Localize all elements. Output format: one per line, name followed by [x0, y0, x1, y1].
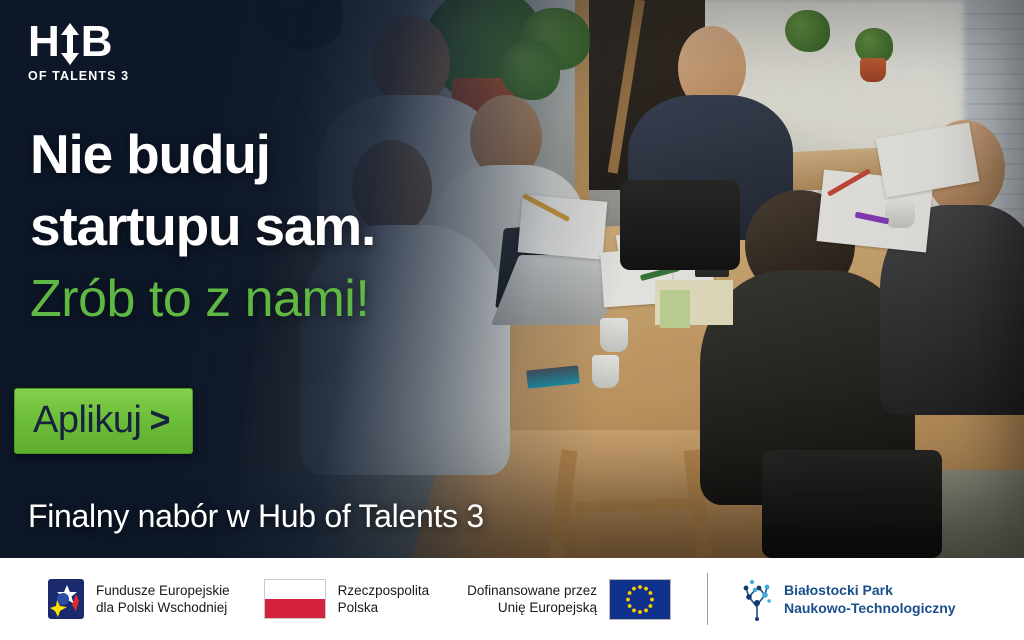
- eu-cofunding-block: Dofinansowane przez Unię Europejską: [467, 579, 671, 620]
- republic-block: Rzeczpospolita Polska: [264, 579, 430, 619]
- republic-text: Rzeczpospolita Polska: [338, 582, 430, 616]
- headline-line-1: Nie buduj: [30, 118, 375, 190]
- european-union-flag-icon: [609, 579, 671, 620]
- bialostocki-park-network-icon: [740, 577, 774, 621]
- funding-footer: Fundusze Europejskie dla Polski Wschodni…: [0, 558, 1024, 640]
- footer-divider: [707, 573, 708, 625]
- headline-block: Nie buduj startupu sam. Zrób to z nami!: [30, 118, 375, 336]
- eu-funds-line-2: dla Polski Wschodniej: [96, 600, 227, 615]
- logo-mark: H B: [28, 22, 129, 66]
- tagline: Finalny nabór w Hub of Talents 3: [28, 498, 484, 535]
- eu-funds-text: Fundusze Europejskie dla Polski Wschodni…: [96, 582, 230, 616]
- logo-letter-h: H: [28, 22, 59, 62]
- promotional-banner: H B OF TALENTS 3 Nie buduj startupu sam.…: [0, 0, 1024, 640]
- eu-cofunding-text: Dofinansowane przez Unię Europejską: [467, 582, 597, 616]
- apply-button-label: Aplikuj: [33, 398, 141, 442]
- eu-cofunding-line-1: Dofinansowane przez: [467, 583, 597, 598]
- logo-letter-b: B: [81, 22, 112, 62]
- republic-line-2: Polska: [338, 600, 379, 615]
- chevron-right-icon: >: [149, 400, 170, 440]
- partner-line-1: Białostocki Park: [784, 582, 893, 598]
- logo-subtitle: OF TALENTS 3: [28, 69, 129, 83]
- partner-block: Białostocki Park Naukowo-Technologiczny: [740, 577, 956, 621]
- headline-line-3: Zrób to z nami!: [30, 262, 375, 336]
- partner-text: Białostocki Park Naukowo-Technologiczny: [784, 581, 956, 617]
- eu-funds-block: Fundusze Europejskie dla Polski Wschodni…: [48, 575, 230, 623]
- hub-of-talents-logo: H B OF TALENTS 3: [28, 22, 129, 83]
- eu-cofunding-line-2: Unię Europejską: [498, 600, 597, 615]
- double-arrow-up-down-icon: [60, 22, 80, 66]
- republic-line-1: Rzeczpospolita: [338, 583, 430, 598]
- partner-line-2: Naukowo-Technologiczny: [784, 600, 956, 616]
- fundusze-europejskie-logo: [48, 575, 84, 623]
- poland-flag-icon: [264, 579, 326, 619]
- headline-line-2: startupu sam.: [30, 190, 375, 262]
- eu-funds-line-1: Fundusze Europejskie: [96, 583, 230, 598]
- apply-button[interactable]: Aplikuj >: [14, 388, 193, 454]
